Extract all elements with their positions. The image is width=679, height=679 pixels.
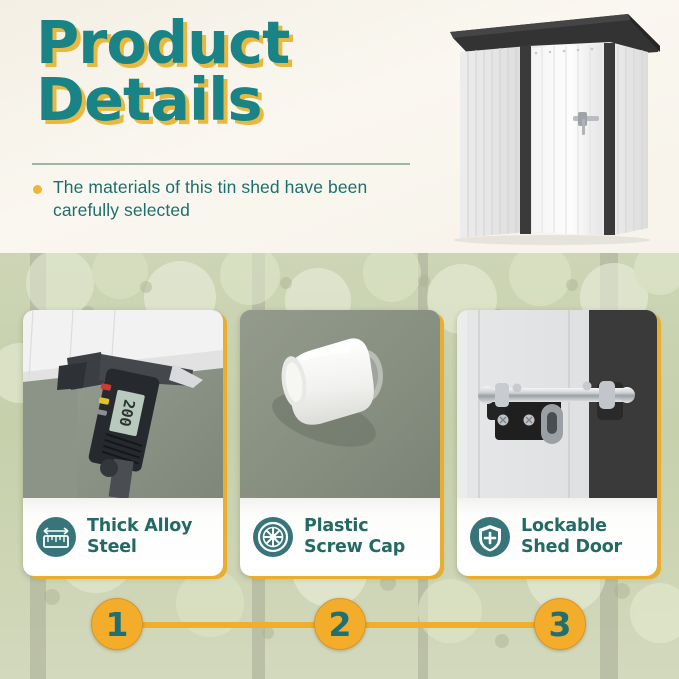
bullet-text: The materials of this tin shed have been… bbox=[53, 176, 423, 223]
bullet-dot-icon bbox=[33, 185, 42, 194]
step-number-1: 1 bbox=[106, 608, 129, 641]
step-indicator-track: 1 2 3 bbox=[0, 598, 679, 652]
card-label-text-3: Lockable Shed Door bbox=[521, 516, 622, 557]
card-label-line1-3: Lockable bbox=[521, 516, 607, 536]
step-number-3: 3 bbox=[549, 608, 572, 641]
page-title: Product Details bbox=[36, 14, 416, 128]
screw-cap-photo bbox=[240, 310, 440, 498]
title-line-2: Details bbox=[36, 71, 416, 128]
feature-card-plastic-screw-cap[interactable]: Plastic Screw Cap bbox=[240, 310, 440, 576]
card-label-line2-1: Steel bbox=[87, 537, 137, 557]
ruler-measure-icon bbox=[35, 516, 77, 558]
feature-card-list: 200 bbox=[0, 310, 679, 576]
step-marker-3[interactable]: 3 bbox=[534, 598, 586, 650]
card-label-text-2: Plastic Screw Cap bbox=[304, 516, 405, 557]
title-divider bbox=[32, 163, 410, 165]
card-label-text-1: Thick Alloy Steel bbox=[87, 516, 192, 557]
title-line-1: Product bbox=[36, 14, 416, 71]
card-label-1: Thick Alloy Steel bbox=[23, 498, 223, 576]
feature-card-thick-alloy-steel[interactable]: 200 bbox=[23, 310, 223, 576]
card-label-3: Lockable Shed Door bbox=[457, 498, 657, 576]
step-marker-1[interactable]: 1 bbox=[91, 598, 143, 650]
card-label-line2-2: Screw Cap bbox=[304, 537, 405, 557]
step-number-2: 2 bbox=[329, 608, 352, 641]
screw-cap-wheel-icon bbox=[252, 516, 294, 558]
card-label-line2-3: Shed Door bbox=[521, 537, 622, 557]
card-label-line1-2: Plastic bbox=[304, 516, 368, 536]
card-label-line1-1: Thick Alloy bbox=[87, 516, 192, 536]
caliper-photo: 200 bbox=[23, 310, 223, 498]
header-panel: Product Details The materials of this ti… bbox=[0, 0, 679, 253]
feature-card-lockable-shed-door[interactable]: Lockable Shed Door bbox=[457, 310, 657, 576]
slide-bolt-latch-photo bbox=[457, 310, 657, 498]
step-marker-2[interactable]: 2 bbox=[314, 598, 366, 650]
card-label-2: Plastic Screw Cap bbox=[240, 498, 440, 576]
product-details-infographic: Product Details The materials of this ti… bbox=[0, 0, 679, 679]
shield-plus-lock-icon bbox=[469, 516, 511, 558]
shed-product-image bbox=[432, 6, 675, 246]
bullet-item: The materials of this tin shed have been… bbox=[33, 176, 423, 223]
